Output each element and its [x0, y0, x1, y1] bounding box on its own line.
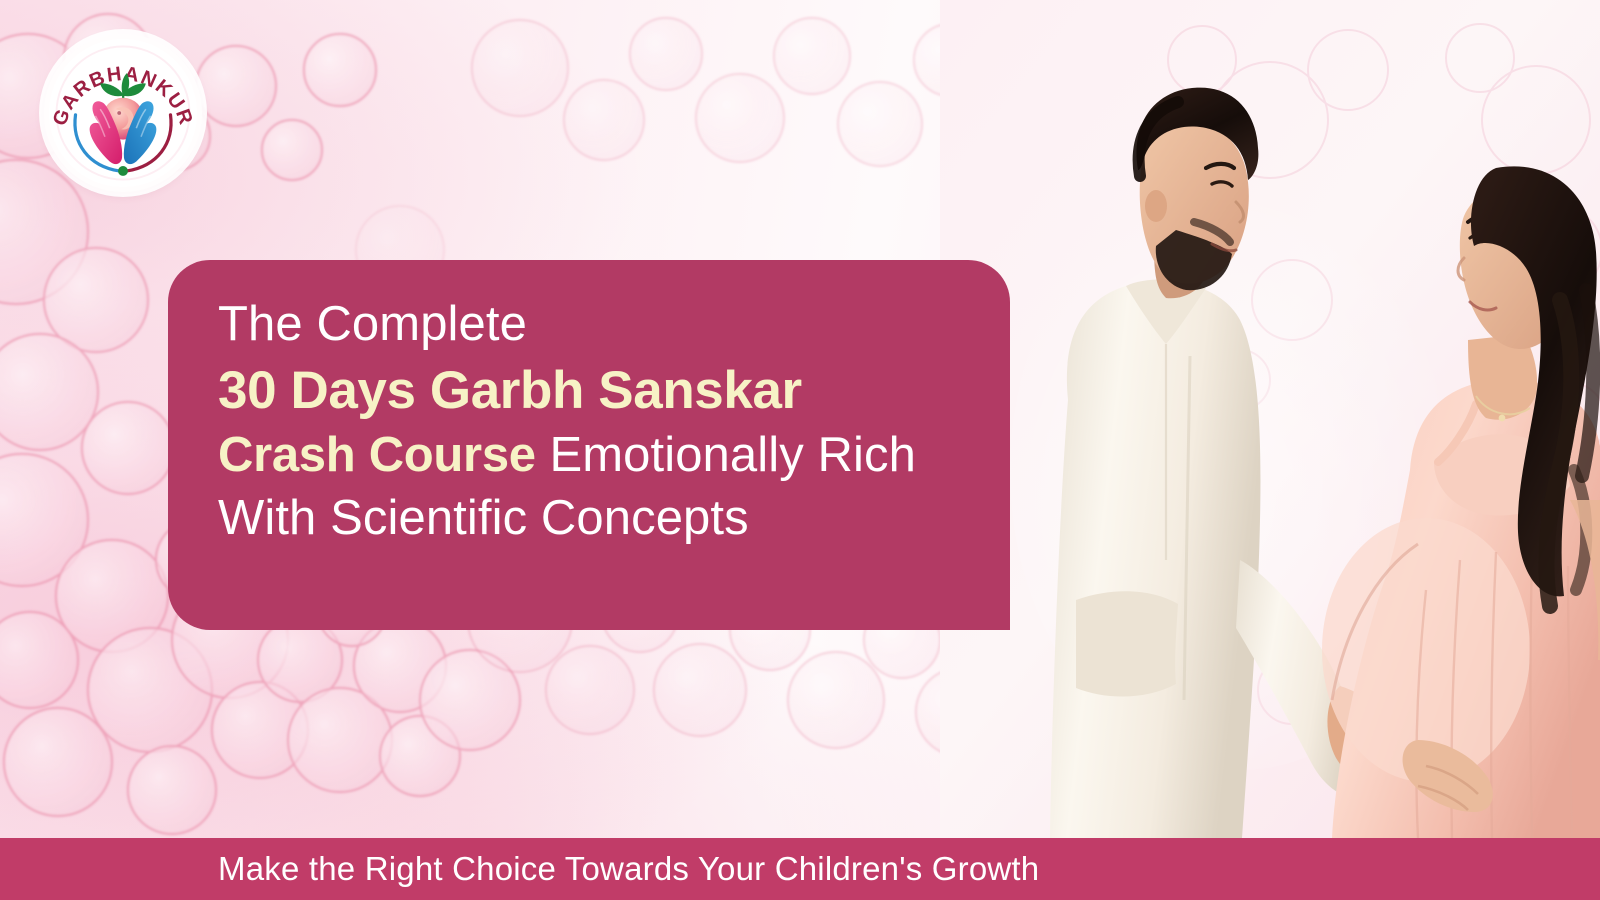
headline-line-2: 30 Days Garbh Sanskar	[218, 364, 1048, 417]
brand-logo[interactable]: GARBHANKUR	[44, 34, 202, 192]
footer-bar: Make the Right Choice Towards Your Child…	[0, 838, 1600, 900]
headline-line-3: Crash Course Emotionally Rich	[218, 431, 1048, 480]
garbhankur-logo-icon: GARBHANKUR	[47, 37, 199, 189]
headline-line-1: The Complete	[218, 300, 1048, 349]
headline-block: The Complete 30 Days Garbh Sanskar Crash…	[218, 300, 1048, 543]
footer-tagline: Make the Right Choice Towards Your Child…	[218, 850, 1039, 888]
headline-line-4: With Scientific Concepts	[218, 494, 1048, 543]
headline-line-3-rest: Emotionally Rich	[536, 428, 916, 482]
promo-banner: GARBHANKUR	[0, 0, 1600, 900]
headline-emphasis: Crash Course	[218, 428, 536, 482]
